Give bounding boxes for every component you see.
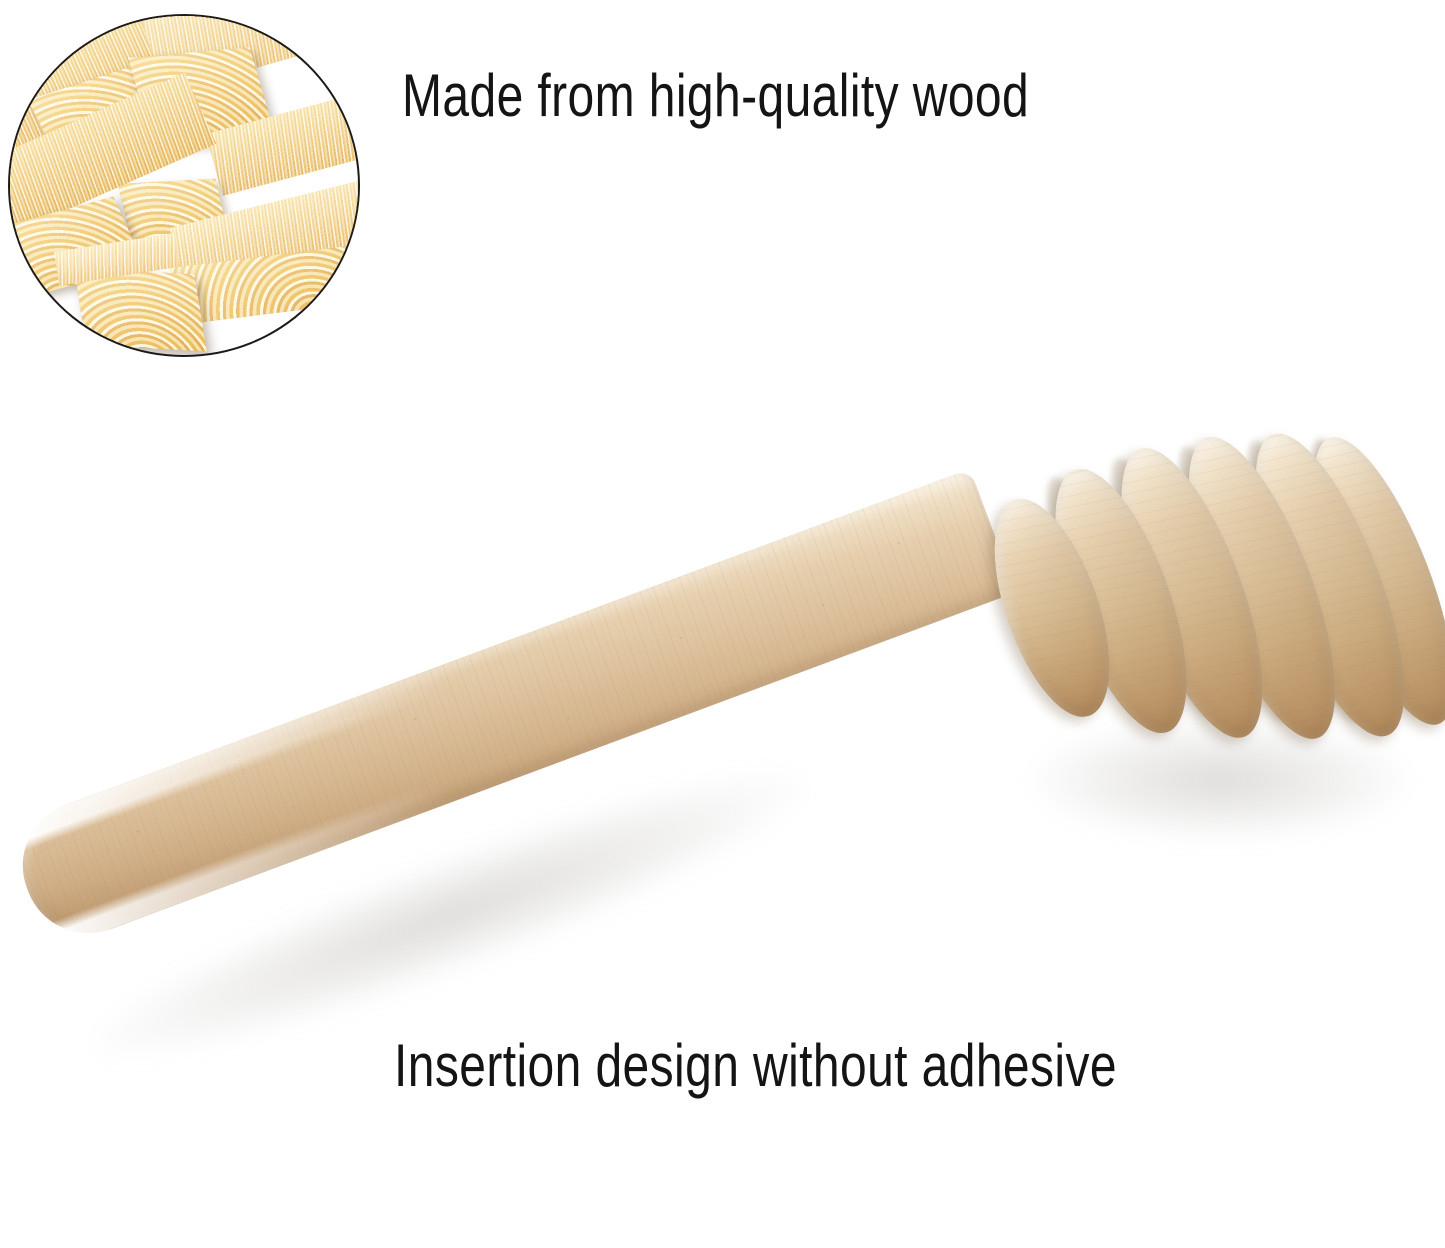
product-image-canvas: Made from high-quality wood Insertion de… <box>0 0 1445 1248</box>
honey-dipper-product <box>0 0 1445 1248</box>
dipper-head <box>0 0 1445 1248</box>
